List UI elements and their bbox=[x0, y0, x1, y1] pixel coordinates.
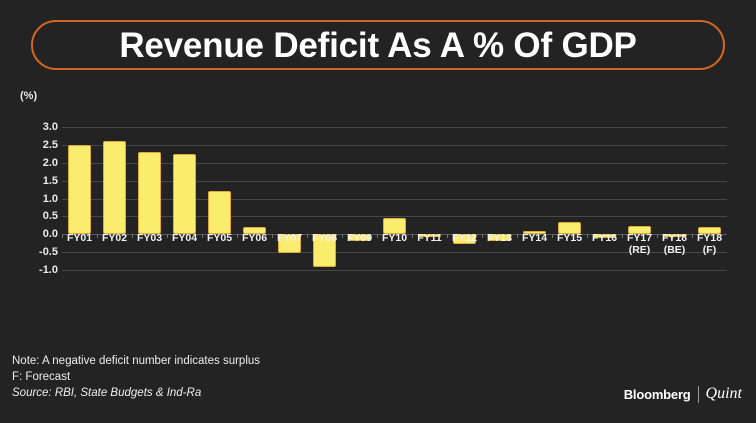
gridline bbox=[62, 127, 727, 128]
x-axis-label: FY03 bbox=[132, 232, 167, 244]
x-axis-label: FY11 bbox=[412, 232, 447, 244]
x-axis-label-text: FY14 bbox=[522, 232, 547, 244]
bar bbox=[173, 154, 196, 234]
x-axis-label-text: FY18 bbox=[662, 232, 687, 244]
footnote-forecast: F: Forecast bbox=[12, 371, 70, 383]
x-axis-label: FY01 bbox=[62, 232, 97, 244]
x-axis-label-text: FY16 bbox=[592, 232, 617, 244]
bar bbox=[103, 141, 126, 235]
brand-bloomberg-text: Bloomberg bbox=[624, 387, 691, 402]
x-axis-label-text: FY11 bbox=[417, 232, 442, 244]
page-title: Revenue Deficit As A % Of GDP bbox=[119, 28, 636, 63]
brand-quint-text: Quint bbox=[706, 385, 742, 403]
x-axis-label-text: FY18 bbox=[697, 232, 722, 244]
x-axis-label: FY17(RE) bbox=[622, 232, 657, 256]
y-axis-tick-label: 1.0 bbox=[18, 193, 58, 205]
x-axis-label: FY13 bbox=[482, 232, 517, 244]
y-axis-tick-label: -1.0 bbox=[18, 264, 58, 276]
y-axis-tick-label: 0.0 bbox=[18, 228, 58, 240]
x-axis-label-text: FY01 bbox=[67, 232, 92, 244]
x-axis-label: FY15 bbox=[552, 232, 587, 244]
x-axis-label-sublabel: (F) bbox=[692, 244, 727, 256]
y-axis-unit-label: (%) bbox=[20, 90, 37, 102]
chart-area: (%) 3.02.52.01.51.00.50.0-0.5-1.0 bbox=[0, 88, 756, 328]
footnote-negative-deficit: Note: A negative deficit number indicate… bbox=[12, 355, 260, 367]
x-axis-label: FY02 bbox=[97, 232, 132, 244]
x-axis-label: FY04 bbox=[167, 232, 202, 244]
x-axis-label-text: FY12 bbox=[452, 232, 477, 244]
x-axis-label-text: FY08 bbox=[312, 232, 337, 244]
y-axis-tick-label: 2.5 bbox=[18, 139, 58, 151]
y-axis-tick-label: -0.5 bbox=[18, 246, 58, 258]
chart-page: Revenue Deficit As A % Of GDP (%) 3.02.5… bbox=[0, 0, 756, 423]
y-axis-labels: 3.02.52.01.51.00.50.0-0.5-1.0 bbox=[14, 127, 58, 270]
x-axis-label-text: FY02 bbox=[102, 232, 127, 244]
x-axis-label-text: FY07 bbox=[277, 232, 302, 244]
brand-logo: Bloomberg Quint bbox=[624, 385, 742, 403]
x-axis-label-text: FY10 bbox=[382, 232, 407, 244]
x-axis-label-text: FY05 bbox=[207, 232, 232, 244]
x-axis-label-text: FY13 bbox=[487, 232, 512, 244]
x-axis-label: FY09 bbox=[342, 232, 377, 244]
x-axis-label: FY14 bbox=[517, 232, 552, 244]
x-axis-label: FY06 bbox=[237, 232, 272, 244]
x-axis-label-sublabel: (RE) bbox=[622, 244, 657, 256]
bar bbox=[138, 152, 161, 234]
y-axis-tick-label: 1.5 bbox=[18, 175, 58, 187]
y-axis-tick-label: 3.0 bbox=[18, 121, 58, 133]
x-axis-label-text: FY06 bbox=[242, 232, 267, 244]
footnote-source: Source: RBI, State Budgets & Ind-Ra bbox=[12, 387, 201, 399]
gridline bbox=[62, 163, 727, 164]
x-axis-label: FY18(BE) bbox=[657, 232, 692, 256]
x-axis-label: FY18(F) bbox=[692, 232, 727, 256]
x-axis-label-sublabel: (BE) bbox=[657, 244, 692, 256]
y-axis-tick-label: 0.5 bbox=[18, 210, 58, 222]
x-axis-label: FY05 bbox=[202, 232, 237, 244]
x-axis-label-text: FY03 bbox=[137, 232, 162, 244]
bar bbox=[208, 191, 231, 234]
brand-separator-icon bbox=[698, 386, 699, 403]
x-axis-label: FY12 bbox=[447, 232, 482, 244]
x-axis-label-text: FY17 bbox=[627, 232, 652, 244]
chart-footer: Note: A negative deficit number indicate… bbox=[0, 343, 756, 423]
x-axis-labels: FY01FY02FY03FY04FY05FY06FY07FY08FY09FY10… bbox=[62, 232, 727, 282]
x-axis-label-text: FY15 bbox=[557, 232, 582, 244]
x-axis-label-text: FY09 bbox=[347, 232, 372, 244]
chart-title-box: Revenue Deficit As A % Of GDP bbox=[31, 20, 725, 70]
x-axis-label: FY16 bbox=[587, 232, 622, 244]
gridline bbox=[62, 181, 727, 182]
x-axis-label: FY10 bbox=[377, 232, 412, 244]
y-axis-tick-label: 2.0 bbox=[18, 157, 58, 169]
gridline bbox=[62, 145, 727, 146]
x-axis-label: FY07 bbox=[272, 232, 307, 244]
x-axis-label-text: FY04 bbox=[172, 232, 197, 244]
gridline bbox=[62, 199, 727, 200]
x-axis-label: FY08 bbox=[307, 232, 342, 244]
bar bbox=[68, 145, 91, 234]
